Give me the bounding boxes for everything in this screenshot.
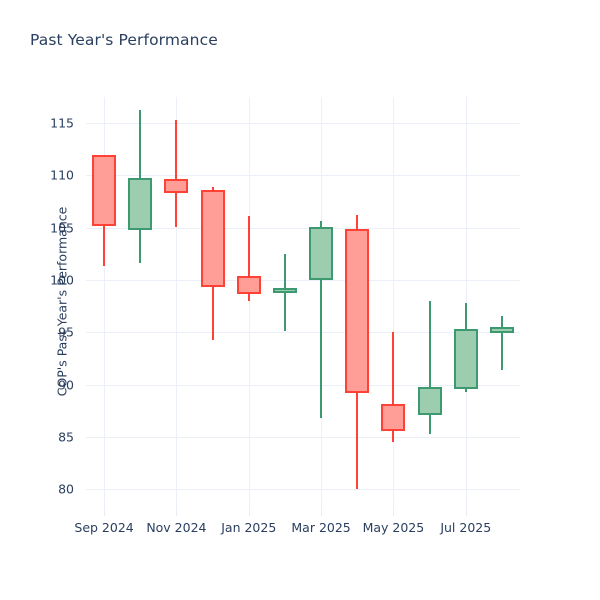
x-axis-tick-mark — [176, 510, 177, 516]
candlestick-body — [164, 179, 188, 194]
x-axis-tick-label: May 2025 — [363, 520, 425, 535]
candlestick-wick — [501, 316, 503, 370]
candlestick[interactable] — [381, 97, 405, 510]
candlestick[interactable] — [164, 97, 188, 510]
candlestick-body — [128, 178, 152, 230]
x-axis-tick-mark — [104, 510, 105, 516]
x-axis-tick-label: Sep 2024 — [74, 520, 133, 535]
candlestick-body — [381, 404, 405, 430]
candlestick[interactable] — [128, 97, 152, 510]
candlestick[interactable] — [201, 97, 225, 510]
x-axis-tick-label: Mar 2025 — [291, 520, 350, 535]
candlestick-body — [273, 288, 297, 293]
candlestick-body — [418, 387, 442, 415]
x-axis-tick-mark — [249, 510, 250, 516]
candlestick-body — [345, 229, 369, 393]
x-axis-tick-label: Jan 2025 — [221, 520, 276, 535]
candlestick-body — [92, 155, 116, 226]
x-axis-tick-mark — [466, 510, 467, 516]
candlestick[interactable] — [237, 97, 261, 510]
x-axis-tick-mark — [321, 510, 322, 516]
candlestick[interactable] — [490, 97, 514, 510]
candlestick[interactable] — [92, 97, 116, 510]
candlestick-body — [237, 276, 261, 294]
candlestick[interactable] — [418, 97, 442, 510]
candlestick-body — [309, 227, 333, 280]
candlestick-body — [454, 329, 478, 389]
candlestick-body — [490, 327, 514, 333]
x-axis-tick-mark — [393, 510, 394, 516]
candlestick-body — [201, 190, 225, 287]
candlestick[interactable] — [345, 97, 369, 510]
x-axis-tick-label: Jul 2025 — [440, 520, 491, 535]
chart-canvas: Past Year's Performance COP's Past Year'… — [0, 0, 600, 600]
candlestick[interactable] — [454, 97, 478, 510]
candlestick[interactable] — [309, 97, 333, 510]
plot-area — [86, 97, 520, 510]
x-axis-tick-label: Nov 2024 — [146, 520, 206, 535]
candlestick[interactable] — [273, 97, 297, 510]
candlestick-wick — [175, 120, 177, 227]
